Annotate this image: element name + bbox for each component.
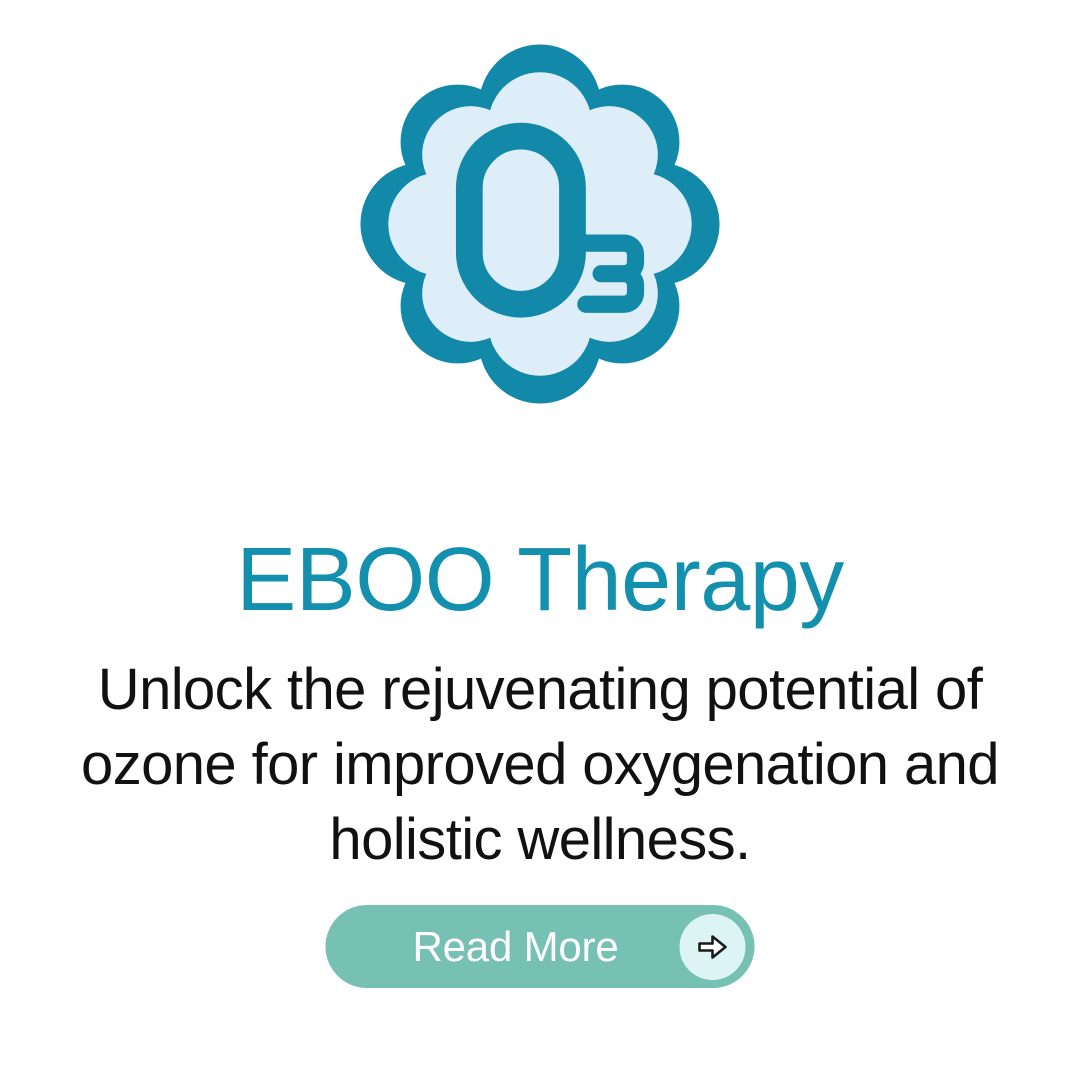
eboo-therapy-card: EBOO Therapy Unlock the rejuvenating pot… (0, 0, 1080, 1080)
arrow-right-icon[interactable] (680, 914, 746, 980)
ozone-o3-badge-icon (349, 33, 731, 415)
description-text: Unlock the rejuvenating potential of ozo… (40, 652, 1040, 877)
read-more-button[interactable]: Read More (326, 905, 755, 988)
read-more-label: Read More (326, 926, 680, 968)
page-title: EBOO Therapy (0, 530, 1080, 630)
